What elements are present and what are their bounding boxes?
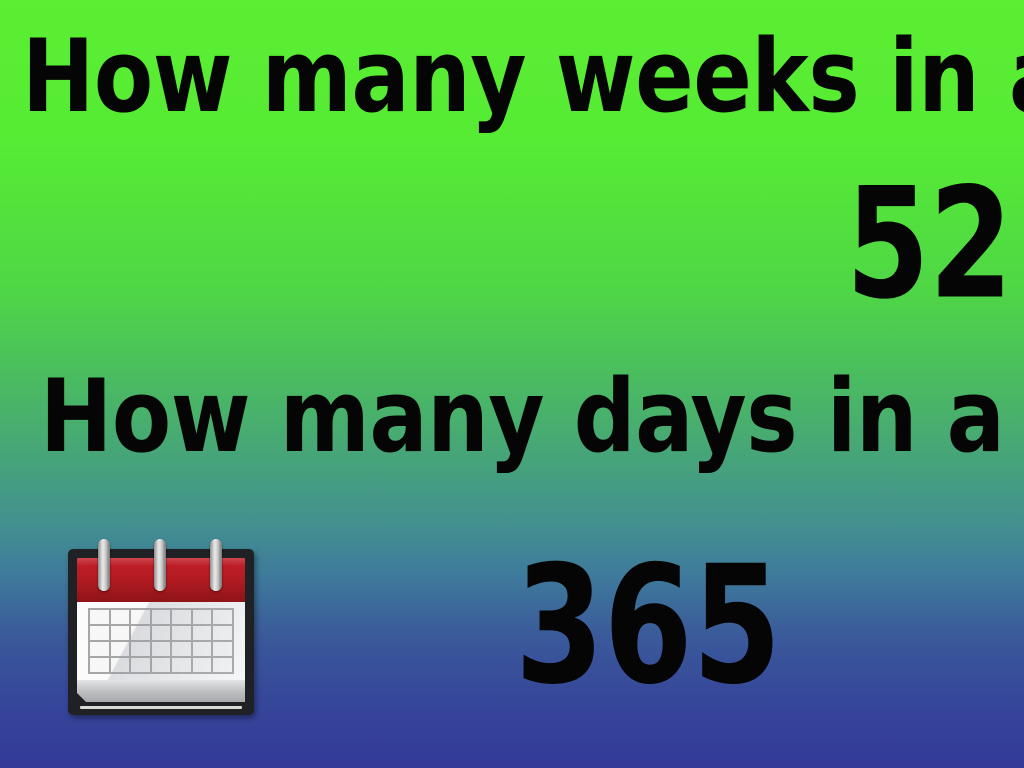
calendar-day-cell <box>131 610 150 624</box>
calendar-day-cell <box>90 658 109 672</box>
calendar-day-cell <box>193 610 212 624</box>
calendar-rings-group <box>62 533 260 573</box>
calendar-day-cell <box>111 610 130 624</box>
question-days-in-year: How many days in a year? <box>40 366 1024 467</box>
question-weeks-in-year: How many weeks in a year? <box>22 26 1024 127</box>
calendar-day-cell <box>90 642 109 656</box>
calendar-day-cell <box>90 610 109 624</box>
calendar-icon <box>62 533 260 719</box>
calendar-base-plate <box>77 680 245 702</box>
calendar-day-cell <box>193 642 212 656</box>
calendar-day-cell <box>90 626 109 640</box>
slide-canvas: How many weeks in a year? 52 How many da… <box>0 0 1024 768</box>
calendar-day-cell <box>152 610 171 624</box>
calendar-day-cell <box>213 626 232 640</box>
calendar-day-cell <box>111 642 130 656</box>
calendar-day-cell <box>152 642 171 656</box>
calendar-day-cell <box>131 626 150 640</box>
calendar-day-cell <box>193 626 212 640</box>
calendar-day-cell <box>172 610 191 624</box>
answer-days-in-year: 365 <box>515 544 781 707</box>
calendar-day-cell <box>111 626 130 640</box>
calendar-grid <box>88 608 234 674</box>
answer-weeks-in-year: 52 <box>846 168 1012 321</box>
calendar-page <box>77 602 245 680</box>
calendar-day-cell <box>213 658 232 672</box>
calendar-day-cell <box>152 626 171 640</box>
calendar-day-cell <box>193 658 212 672</box>
calendar-day-cell <box>131 642 150 656</box>
calendar-ring-icon <box>98 539 110 591</box>
calendar-day-cell <box>213 642 232 656</box>
calendar-day-cell <box>172 626 191 640</box>
calendar-day-cell <box>131 658 150 672</box>
calendar-ring-icon <box>154 539 166 591</box>
calendar-foot-line <box>80 706 242 709</box>
calendar-day-cell <box>213 610 232 624</box>
calendar-day-cell <box>111 658 130 672</box>
calendar-day-cell <box>172 642 191 656</box>
calendar-day-cell <box>152 658 171 672</box>
calendar-day-cell <box>172 658 191 672</box>
calendar-ring-icon <box>210 539 222 591</box>
